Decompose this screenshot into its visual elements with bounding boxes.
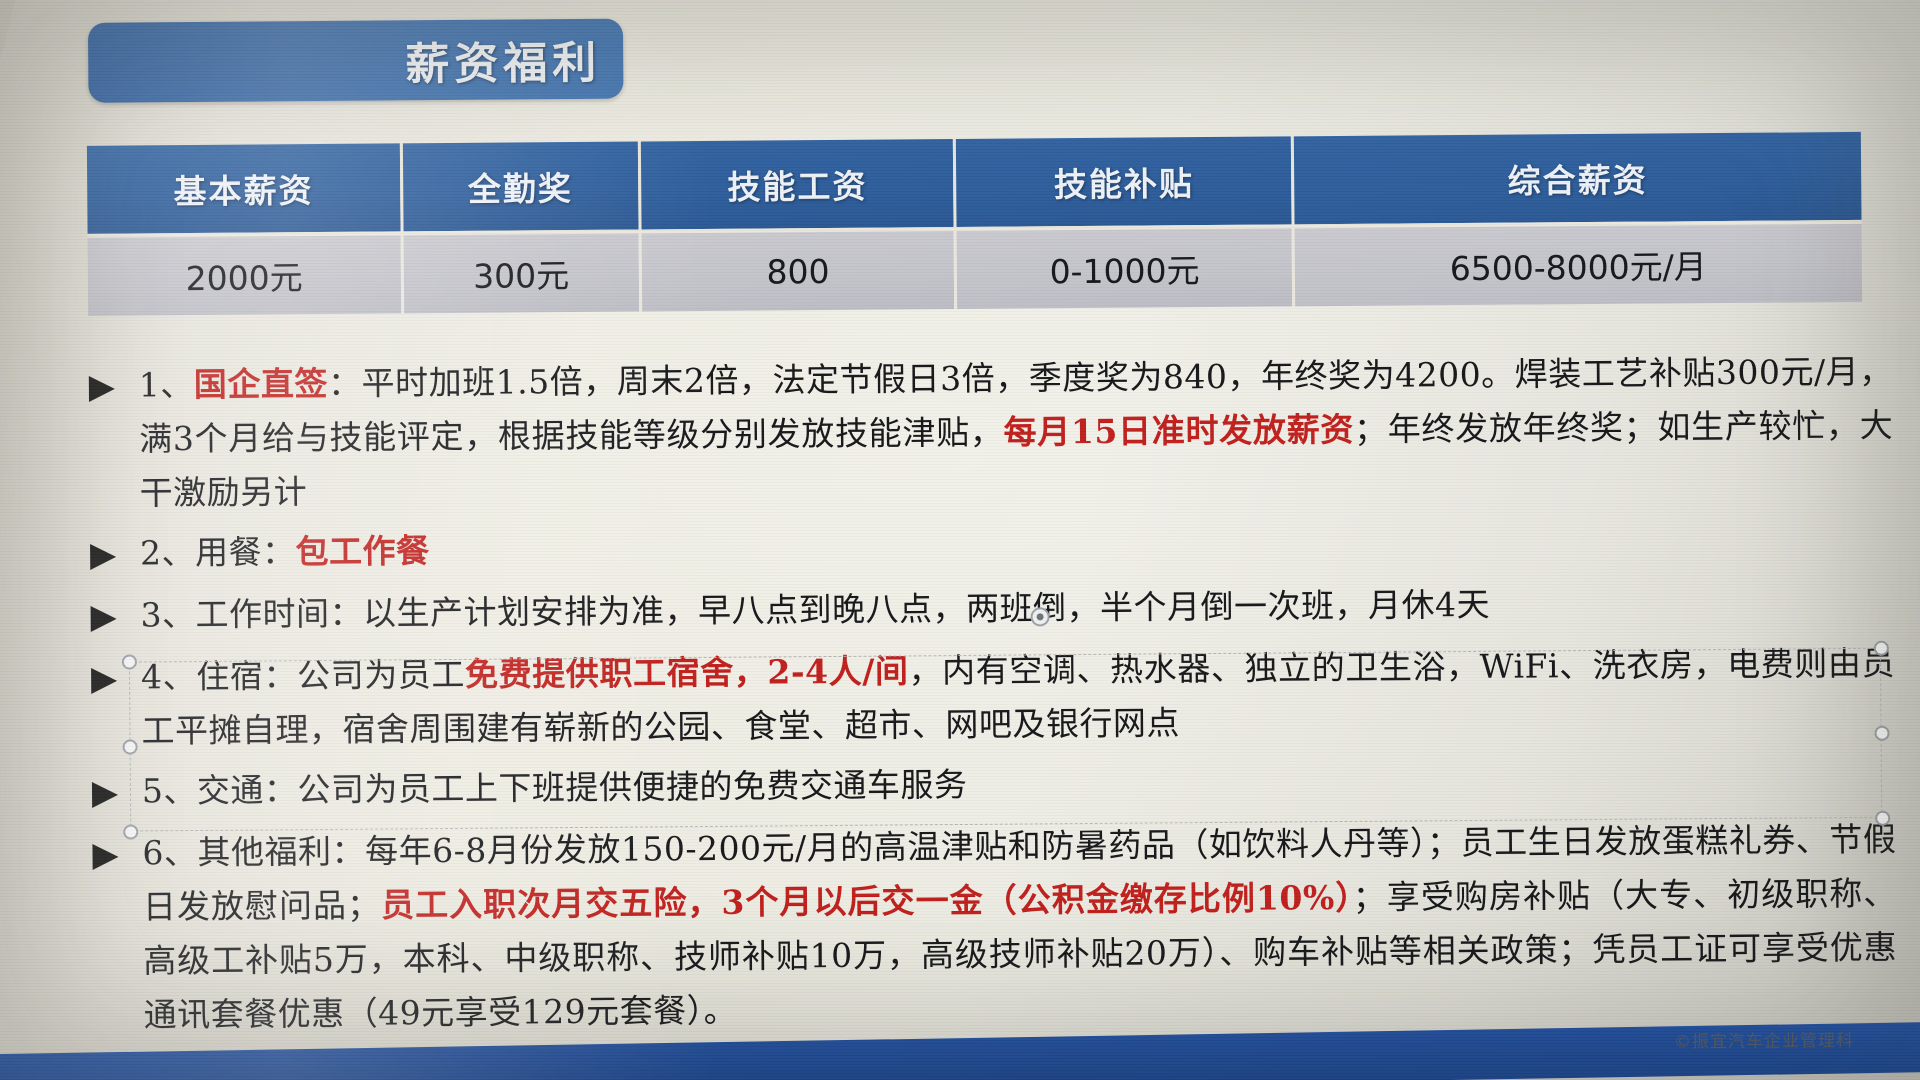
seg-highlight: 每月15日准时发放薪资 xyxy=(1003,410,1354,452)
list-item: ▶ 4、住宿：公司为员工免费提供职工宿舍，2-4人/间，内有空调、热水器、独立的… xyxy=(85,637,1896,759)
table-header-attendance-bonus: 全勤奖 xyxy=(402,141,641,235)
table-cell-attendance-bonus: 300元 xyxy=(403,233,642,313)
page-title: 薪资福利 xyxy=(405,27,601,93)
list-item: ▶ 5、交通：公司为员工上下班提供便捷的免费交通车服务 xyxy=(86,751,1896,821)
table-cell-skill-wage: 800 xyxy=(641,231,957,311)
benefits-bullet-list: ▶ 1、国企直签：平时加班1.5倍，周末2倍，法定节假日3倍，季度奖为840，年… xyxy=(83,345,1898,1049)
seg-highlight: 免费提供职工宿舍，2-4人/间 xyxy=(465,651,909,693)
resize-handle-middle-right[interactable] xyxy=(1874,726,1889,741)
table-header-skill-wage: 技能工资 xyxy=(641,139,957,233)
salary-table: 基本薪资 全勤奖 技能工资 技能补贴 综合薪资 2000元 300元 800 0… xyxy=(87,132,1862,316)
seg: 5、交通：公司为员工上下班提供便捷的免费交通车服务 xyxy=(142,765,968,810)
table-row: 2000元 300元 800 0-1000元 6500-8000元/月 xyxy=(88,224,1863,316)
seg-highlight: 国企直签 xyxy=(194,364,328,404)
seg: 2、用餐： xyxy=(140,532,296,572)
seg: 3、工作时间：以生产计划安排为准，早八点到晚八点，两班倒，半个月倒一次班，月休4… xyxy=(140,585,1490,635)
seg: 4、住宿：公司为员工 xyxy=(141,655,465,697)
triangle-bullet-icon: ▶ xyxy=(86,764,142,820)
photographed-slide-canvas: 薪资福利 基本薪资 全勤奖 技能工资 技能补贴 综合薪资 2000元 300元 … xyxy=(0,0,1920,1080)
table-header-total-salary: 综合薪资 xyxy=(1294,132,1862,228)
rotate-handle[interactable] xyxy=(1031,607,1050,626)
list-item: ▶ 3、工作时间：以生产计划安排为准，早八点到晚八点，两班倒，半个月倒一次班，月… xyxy=(84,575,1894,645)
table-header-row: 基本薪资 全勤奖 技能工资 技能补贴 综合薪资 xyxy=(87,132,1862,238)
resize-handle-middle-left[interactable] xyxy=(123,739,138,754)
table-cell-skill-subsidy: 0-1000元 xyxy=(957,228,1295,309)
seg-highlight: 包工作餐 xyxy=(295,531,429,571)
bullet-text-4: 4、住宿：公司为员工免费提供职工宿舍，2-4人/间，内有空调、热水器、独立的卫生… xyxy=(141,637,1896,759)
bullet-text-3: 3、工作时间：以生产计划安排为准，早八点到晚八点，两班倒，半个月倒一次班，月休4… xyxy=(140,575,1894,643)
slide-content: 薪资福利 基本薪资 全勤奖 技能工资 技能补贴 综合薪资 2000元 300元 … xyxy=(0,0,1920,1080)
slide-title-banner: 薪资福利 xyxy=(88,19,624,103)
watermark-text: ©振宜汽车企业管理科 xyxy=(1674,1026,1854,1052)
table-cell-total-salary: 6500-8000元/月 xyxy=(1294,224,1862,306)
list-item: ▶ 1、国企直签：平时加班1.5倍，周末2倍，法定节假日3倍，季度奖为840，年… xyxy=(83,345,1894,521)
bullet-text-6: 6、其他福利：每年6-8月份发放150-200元/月的高温津贴和防暑药品（如饮料… xyxy=(142,813,1898,1043)
bullet-text-5: 5、交通：公司为员工上下班提供便捷的免费交通车服务 xyxy=(142,751,1896,819)
resize-handle-top-left[interactable] xyxy=(122,654,137,669)
list-item: ▶ 6、其他福利：每年6-8月份发放150-200元/月的高温津贴和防暑药品（如… xyxy=(86,813,1898,1043)
table-header-basic-salary: 基本薪资 xyxy=(87,143,403,237)
table-cell-basic-salary: 2000元 xyxy=(88,235,404,315)
resize-handle-bottom-left[interactable] xyxy=(123,824,138,839)
bullet-text-2: 2、用餐：包工作餐 xyxy=(140,513,1894,581)
resize-handle-top-right[interactable] xyxy=(1874,641,1889,656)
triangle-bullet-icon: ▶ xyxy=(84,588,140,644)
list-item: ▶ 2、用餐：包工作餐 xyxy=(84,513,1894,583)
seg-highlight: 员工入职次月交五险，3个月以后交一金（公积金缴存比例10%） xyxy=(380,878,1353,925)
triangle-bullet-icon: ▶ xyxy=(84,526,140,582)
table-header-skill-subsidy: 技能补贴 xyxy=(956,136,1294,231)
bullet-text-1: 1、国企直签：平时加班1.5倍，周末2倍，法定节假日3倍，季度奖为840，年终奖… xyxy=(139,345,1894,521)
resize-handle-bottom-right[interactable] xyxy=(1875,811,1890,826)
seg: 1、 xyxy=(139,365,194,404)
triangle-bullet-icon: ▶ xyxy=(83,358,139,414)
